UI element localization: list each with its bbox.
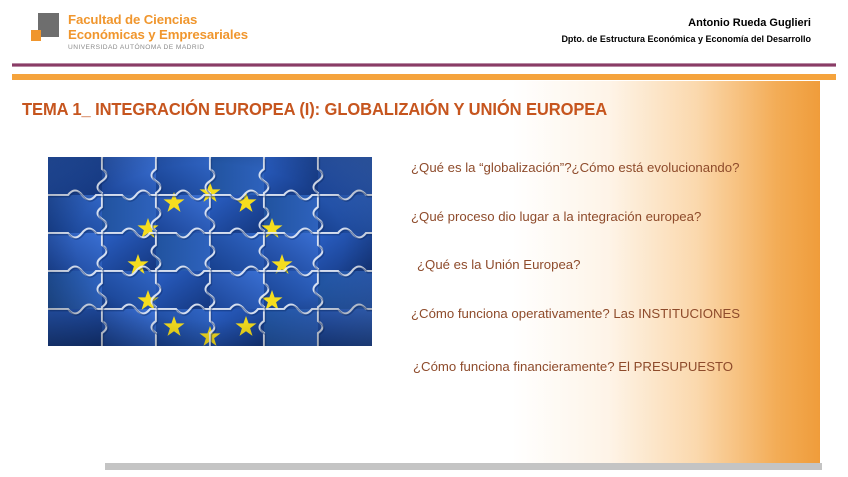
divider-orange — [12, 74, 836, 80]
logo-orange-square — [31, 30, 41, 41]
logo-white-notch — [31, 13, 38, 30]
logo-text-block: Facultad de Ciencias Económicas y Empres… — [68, 13, 248, 52]
eu-flag-jigsaw-puzzle — [48, 157, 372, 346]
institution-logo: Facultad de Ciencias Económicas y Empres… — [31, 13, 248, 52]
question-line: ¿Cómo funciona operativamente? Las INSTI… — [411, 306, 740, 321]
footer-bar — [105, 463, 822, 470]
question-line: ¿Qué es la Unión Europea? — [417, 257, 580, 272]
page-title: TEMA 1_ INTEGRACIÓN EUROPEA (I): GLOBALI… — [22, 99, 607, 120]
author-name: Antonio Rueda Guglieri — [561, 17, 811, 29]
question-line: ¿Cómo funciona financieramente? El PRESU… — [413, 359, 733, 374]
slide-header: Facultad de Ciencias Económicas y Empres… — [0, 0, 848, 60]
logo-university-subtitle: UNIVERSIDAD AUTÓNOMA DE MADRID — [68, 45, 248, 52]
logo-line-1: Facultad de Ciencias — [68, 13, 248, 28]
orange-gradient-panel — [380, 81, 820, 463]
author-department: Dpto. de Estructura Económica y Economía… — [561, 34, 811, 44]
logo-line-2: Económicas y Empresariales — [68, 28, 248, 43]
divider-purple — [12, 63, 836, 67]
author-block: Antonio Rueda Guglieri Dpto. de Estructu… — [561, 17, 811, 44]
question-line: ¿Qué proceso dio lugar a la integración … — [411, 209, 701, 224]
slide-canvas: Facultad de Ciencias Económicas y Empres… — [0, 0, 848, 477]
uam-logo-icon — [31, 13, 59, 43]
question-line: ¿Qué es la “globalización”?¿Cómo está ev… — [411, 160, 739, 175]
